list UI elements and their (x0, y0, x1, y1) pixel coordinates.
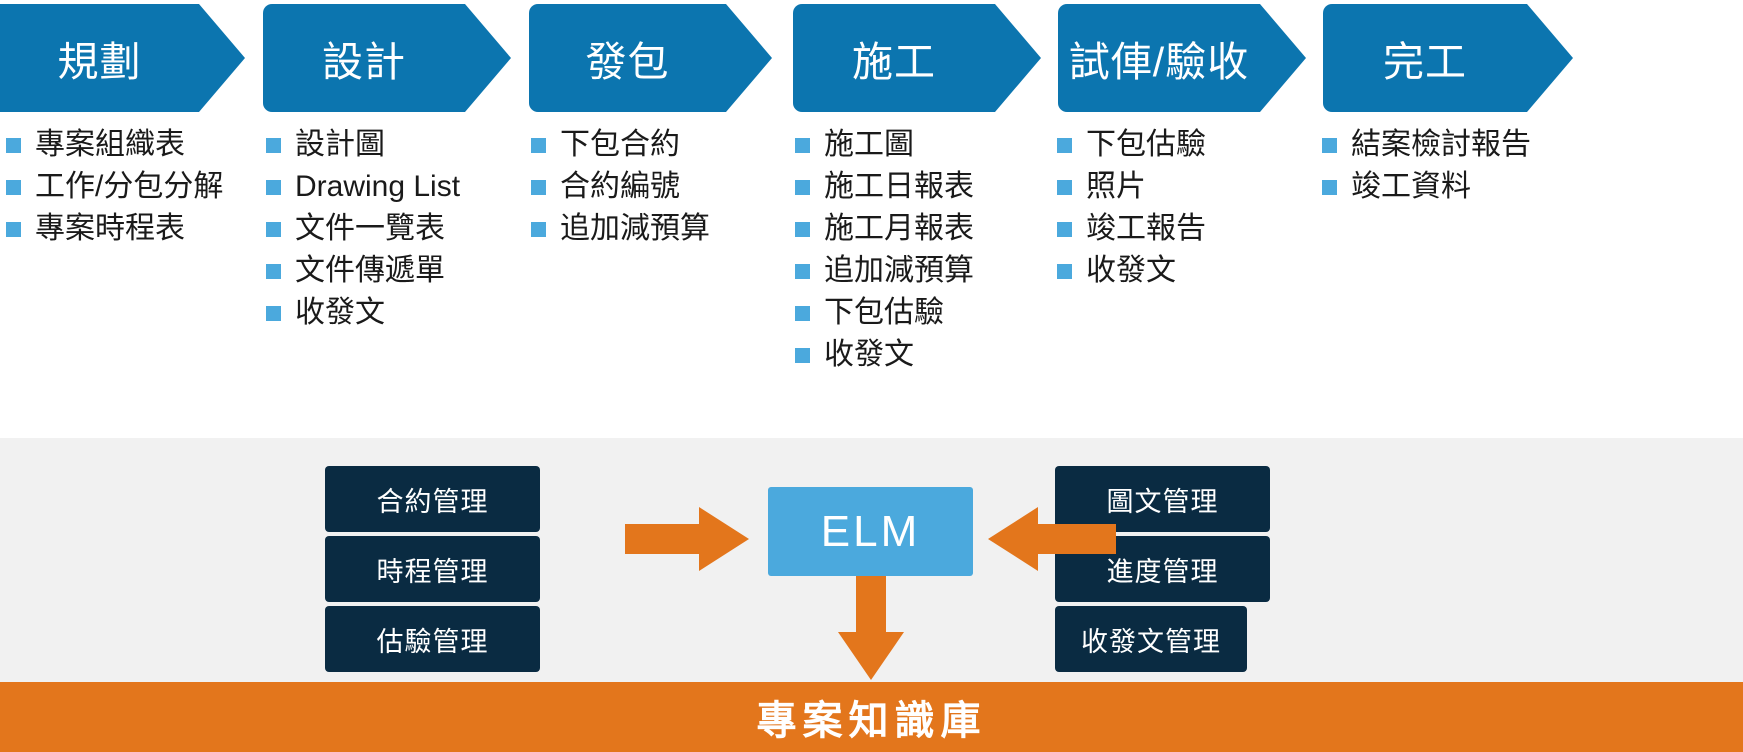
phase-chevron-label: 設計 (322, 28, 406, 88)
deliverable-list-planning: 專案組織表 工作/分包分解 專案時程表 (6, 128, 223, 254)
module-box-valuation-management[interactable]: 估驗管理 (325, 606, 540, 672)
arrow-head (988, 507, 1038, 571)
arrow-right-icon (625, 517, 753, 547)
list-item-label: 收發文 (1086, 254, 1176, 287)
bullet-square-icon (266, 180, 281, 195)
phase-chevron-row: 規劃 設計 發包 施工 試俥/驗收 完工 (0, 4, 1743, 112)
list-item-label: Drawing List (295, 170, 460, 203)
list-item-label: 下包估驗 (1086, 128, 1206, 161)
bullet-square-icon (531, 222, 546, 237)
list-item-label: 工作/分包分解 (35, 170, 223, 203)
list-item[interactable]: 文件一覽表 (266, 212, 460, 245)
module-box-correspondence-management[interactable]: 收發文管理 (1055, 606, 1247, 672)
deliverable-list-tendering: 下包合約 合約編號 追加減預算 (531, 128, 710, 254)
list-item[interactable]: 追加減預算 (531, 212, 710, 245)
list-item[interactable]: 施工圖 (795, 128, 974, 161)
phase-chevron-completion[interactable]: 完工 (1323, 4, 1573, 112)
deliverable-list-completion: 結案檢討報告 竣工資料 (1322, 128, 1531, 212)
arrow-shaft (625, 524, 703, 554)
list-item[interactable]: 下包估驗 (1057, 128, 1206, 161)
list-item-label: 照片 (1086, 170, 1146, 203)
bullet-square-icon (795, 348, 810, 363)
list-item[interactable]: 追加減預算 (795, 254, 974, 287)
list-item-label: 結案檢討報告 (1351, 128, 1531, 161)
list-item-label: 下包合約 (560, 128, 680, 161)
list-item[interactable]: 施工日報表 (795, 170, 974, 203)
bullet-square-icon (795, 264, 810, 279)
list-item-label: 施工月報表 (824, 212, 974, 245)
bullet-square-icon (1057, 222, 1072, 237)
arrow-down-icon (848, 574, 894, 684)
module-box-label: 圖文管理 (1107, 480, 1219, 519)
list-item-label: 竣工資料 (1351, 170, 1471, 203)
module-box-label: 合約管理 (377, 480, 489, 519)
list-item-label: 文件一覽表 (295, 212, 445, 245)
list-item-label: 下包估驗 (824, 296, 944, 329)
list-item-label: 專案組織表 (35, 128, 185, 161)
arrow-shaft (856, 574, 886, 636)
phase-chevron-label: 規劃 (58, 28, 142, 88)
list-item[interactable]: 收發文 (795, 338, 974, 371)
deliverable-list-commissioning: 下包估驗 照片 竣工報告 收發文 (1057, 128, 1206, 296)
phase-chevron-design[interactable]: 設計 (263, 4, 511, 112)
list-item[interactable]: 竣工資料 (1322, 170, 1531, 203)
deliverable-list-construction: 施工圖 施工日報表 施工月報表 追加減預算 下包估驗 收發文 (795, 128, 974, 380)
bullet-square-icon (1322, 138, 1337, 153)
phase-chevron-planning[interactable]: 規劃 (0, 4, 245, 112)
bullet-square-icon (795, 138, 810, 153)
phase-chevron-label: 施工 (852, 28, 936, 88)
list-item[interactable]: 收發文 (266, 296, 460, 329)
list-item-label: 施工圖 (824, 128, 914, 161)
module-box-schedule-management[interactable]: 時程管理 (325, 536, 540, 602)
bullet-square-icon (6, 138, 21, 153)
arrow-left-icon (988, 517, 1116, 547)
bullet-square-icon (1057, 138, 1072, 153)
list-item[interactable]: 文件傳遞單 (266, 254, 460, 287)
bullet-square-icon (1322, 180, 1337, 195)
list-item-label: 文件傳遞單 (295, 254, 445, 287)
phase-chevron-commissioning[interactable]: 試俥/驗收 (1058, 4, 1306, 112)
list-item[interactable]: 施工月報表 (795, 212, 974, 245)
module-box-label: 收發文管理 (1081, 620, 1221, 659)
module-box-label: 估驗管理 (377, 620, 489, 659)
list-item-label: 專案時程表 (35, 212, 185, 245)
bullet-square-icon (266, 264, 281, 279)
list-item[interactable]: 結案檢討報告 (1322, 128, 1531, 161)
list-item[interactable]: 專案組織表 (6, 128, 223, 161)
list-item[interactable]: 設計圖 (266, 128, 460, 161)
bullet-square-icon (266, 138, 281, 153)
list-item-label: 收發文 (295, 296, 385, 329)
list-item[interactable]: 合約編號 (531, 170, 710, 203)
list-item-label: 施工日報表 (824, 170, 974, 203)
list-item-label: 追加減預算 (824, 254, 974, 287)
diagram-canvas: 規劃 設計 發包 施工 試俥/驗收 完工 專案組織表 工作/分包分解 (0, 0, 1743, 752)
list-item[interactable]: 竣工報告 (1057, 212, 1206, 245)
bullet-square-icon (531, 180, 546, 195)
deliverable-list-design: 設計圖 Drawing List 文件一覽表 文件傳遞單 收發文 (266, 128, 460, 338)
list-item[interactable]: 收發文 (1057, 254, 1206, 287)
arrow-shaft (1038, 524, 1116, 554)
module-box-label: 時程管理 (377, 550, 489, 589)
phase-chevron-construction[interactable]: 施工 (793, 4, 1041, 112)
bullet-square-icon (1057, 264, 1072, 279)
bullet-square-icon (795, 306, 810, 321)
bullet-square-icon (6, 222, 21, 237)
list-item-label: 收發文 (824, 338, 914, 371)
list-item[interactable]: 照片 (1057, 170, 1206, 203)
bullet-square-icon (1057, 180, 1072, 195)
module-box-contract-management[interactable]: 合約管理 (325, 466, 540, 532)
list-item[interactable]: 下包估驗 (795, 296, 974, 329)
list-item-label: 設計圖 (295, 128, 385, 161)
arrow-head (699, 507, 749, 571)
list-item[interactable]: 工作/分包分解 (6, 170, 223, 203)
phase-chevron-label: 發包 (586, 28, 670, 88)
list-item-label: 合約編號 (560, 170, 680, 203)
arrow-head (838, 632, 904, 680)
knowledge-base-label: 專案知識庫 (757, 688, 987, 746)
bullet-square-icon (266, 306, 281, 321)
list-item[interactable]: Drawing List (266, 170, 460, 203)
phase-chevron-label: 試俥/驗收 (1069, 28, 1249, 88)
list-item[interactable]: 下包合約 (531, 128, 710, 161)
bullet-square-icon (795, 222, 810, 237)
elm-core-box[interactable]: ELM (768, 487, 973, 576)
bullet-square-icon (6, 180, 21, 195)
phase-chevron-tendering[interactable]: 發包 (529, 4, 772, 112)
bullet-square-icon (795, 180, 810, 195)
list-item-label: 竣工報告 (1086, 212, 1206, 245)
list-item-label: 追加減預算 (560, 212, 710, 245)
knowledge-base-banner: 專案知識庫 (0, 682, 1743, 752)
list-item[interactable]: 專案時程表 (6, 212, 223, 245)
elm-core-label: ELM (821, 507, 920, 557)
module-box-label: 進度管理 (1107, 550, 1219, 589)
phase-chevron-label: 完工 (1383, 28, 1467, 88)
bullet-square-icon (266, 222, 281, 237)
bullet-square-icon (531, 138, 546, 153)
